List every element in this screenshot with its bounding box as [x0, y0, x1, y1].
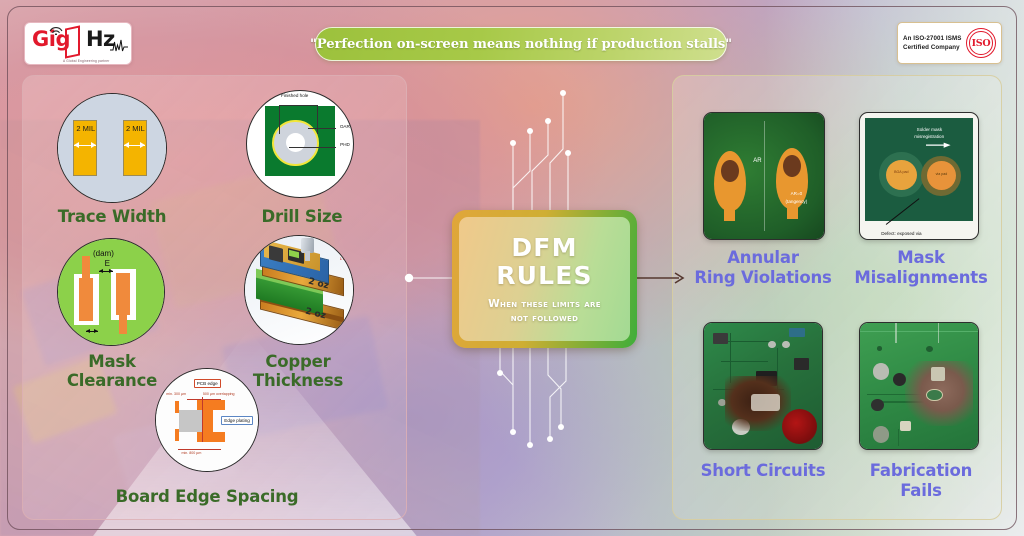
- drill-oar-label: OAR: [340, 124, 350, 129]
- copper-thickness-title: Copper Thickness: [228, 352, 368, 390]
- bes-pcb-edge-label: PCB edge: [194, 379, 221, 388]
- mm-misregistration-label: misregistration: [914, 134, 944, 139]
- bes-min800-label: min. 800 µm: [182, 451, 202, 455]
- short-circuit-icon[interactable]: [703, 322, 823, 450]
- mm-defect-label: Defect: exposed via: [881, 231, 921, 236]
- trace-width-label-2: 2 MIL: [126, 124, 145, 133]
- iso-certification-badge: An ISO-27001 ISMS Certified Company ISO: [897, 22, 1002, 64]
- trace-width-label-1: 2 MIL: [76, 124, 95, 133]
- copper-oz-label-3: 1 oz: [340, 257, 347, 261]
- mm-bga-pad-label: BGA pad: [890, 170, 914, 174]
- drill-finished-hole-label: Finished hole: [276, 93, 314, 98]
- ar-zero-label: AR=0: [772, 191, 820, 197]
- wifi-icon: [49, 25, 63, 35]
- mm-arrow-icon: [926, 142, 952, 148]
- mask-e-label: E: [105, 259, 110, 268]
- bes-edge-plating-label: Edge plating: [221, 416, 253, 425]
- trace-width-title: Trace Width: [32, 207, 192, 226]
- iso-line2: Certified Company: [903, 43, 966, 52]
- iso-seal-icon: ISO: [966, 28, 996, 58]
- dfm-title-line1: DFM: [511, 234, 577, 262]
- iso-seal-label: ISO: [972, 38, 991, 49]
- dfm-subtitle-line1: When these limits are: [488, 297, 601, 311]
- board-edge-spacing-title: Board Edge Spacing: [112, 487, 302, 506]
- fabrication-fails-title: Fabrication Fails: [851, 461, 991, 501]
- mask-dam-label: (dam): [93, 249, 114, 258]
- mm-via-pad-label: via pad: [930, 172, 954, 176]
- copper-thickness-icon[interactable]: 2 oz 2 oz 1 oz: [244, 235, 354, 345]
- headline-text: "Perfection on-screen means nothing if p…: [310, 37, 732, 52]
- fabrication-fail-icon[interactable]: [859, 322, 979, 450]
- gighz-logo[interactable]: GigHz A Global Engineering partner: [24, 22, 132, 65]
- mask-misalignment-title: Mask Misalignments: [851, 248, 991, 288]
- right-arrow-connector: [637, 271, 689, 285]
- bes-min300-label: min. 300 µm: [166, 392, 186, 396]
- mask-clearance-title: Mask Clearance: [42, 352, 182, 390]
- waveform-icon: [110, 39, 128, 52]
- logo-tagline: A Global Engineering partner: [63, 59, 110, 63]
- left-connector-line: [404, 273, 454, 283]
- logo-text-gi: G: [32, 27, 49, 51]
- drill-size-title: Drill Size: [222, 207, 382, 226]
- ar-label: AR: [753, 158, 761, 164]
- annular-ring-violation-icon[interactable]: AR AR=0 (tangency): [703, 112, 825, 240]
- logo-door-icon: [65, 25, 80, 58]
- annular-ring-title: Annular Ring Violations: [688, 248, 838, 288]
- dfm-subtitle-line2: not followed: [488, 311, 601, 325]
- drill-phd-label: PHD: [340, 142, 350, 147]
- mm-solder-mask-label: Solder mask: [917, 127, 943, 132]
- mask-clearance-icon[interactable]: (dam) E: [57, 238, 165, 346]
- iso-line1: An ISO-27001 ISMS: [903, 34, 966, 43]
- dfm-title-line2: RULES: [496, 262, 593, 290]
- dfm-rules-card[interactable]: DFM RULES When these limits are not foll…: [452, 210, 637, 348]
- mask-misalignment-icon[interactable]: Solder mask misregistration BGA pad via …: [859, 112, 979, 240]
- short-circuits-title: Short Circuits: [688, 461, 838, 481]
- trace-width-icon[interactable]: 2 MIL 2 MIL: [57, 93, 167, 203]
- bes-overlap-label: 500 µm overlapping: [203, 392, 235, 396]
- ar-tangency-label: (tangency): [772, 199, 820, 205]
- headline-banner: "Perfection on-screen means nothing if p…: [315, 27, 727, 61]
- drill-size-icon[interactable]: Finished hole OAR PHD: [246, 90, 354, 198]
